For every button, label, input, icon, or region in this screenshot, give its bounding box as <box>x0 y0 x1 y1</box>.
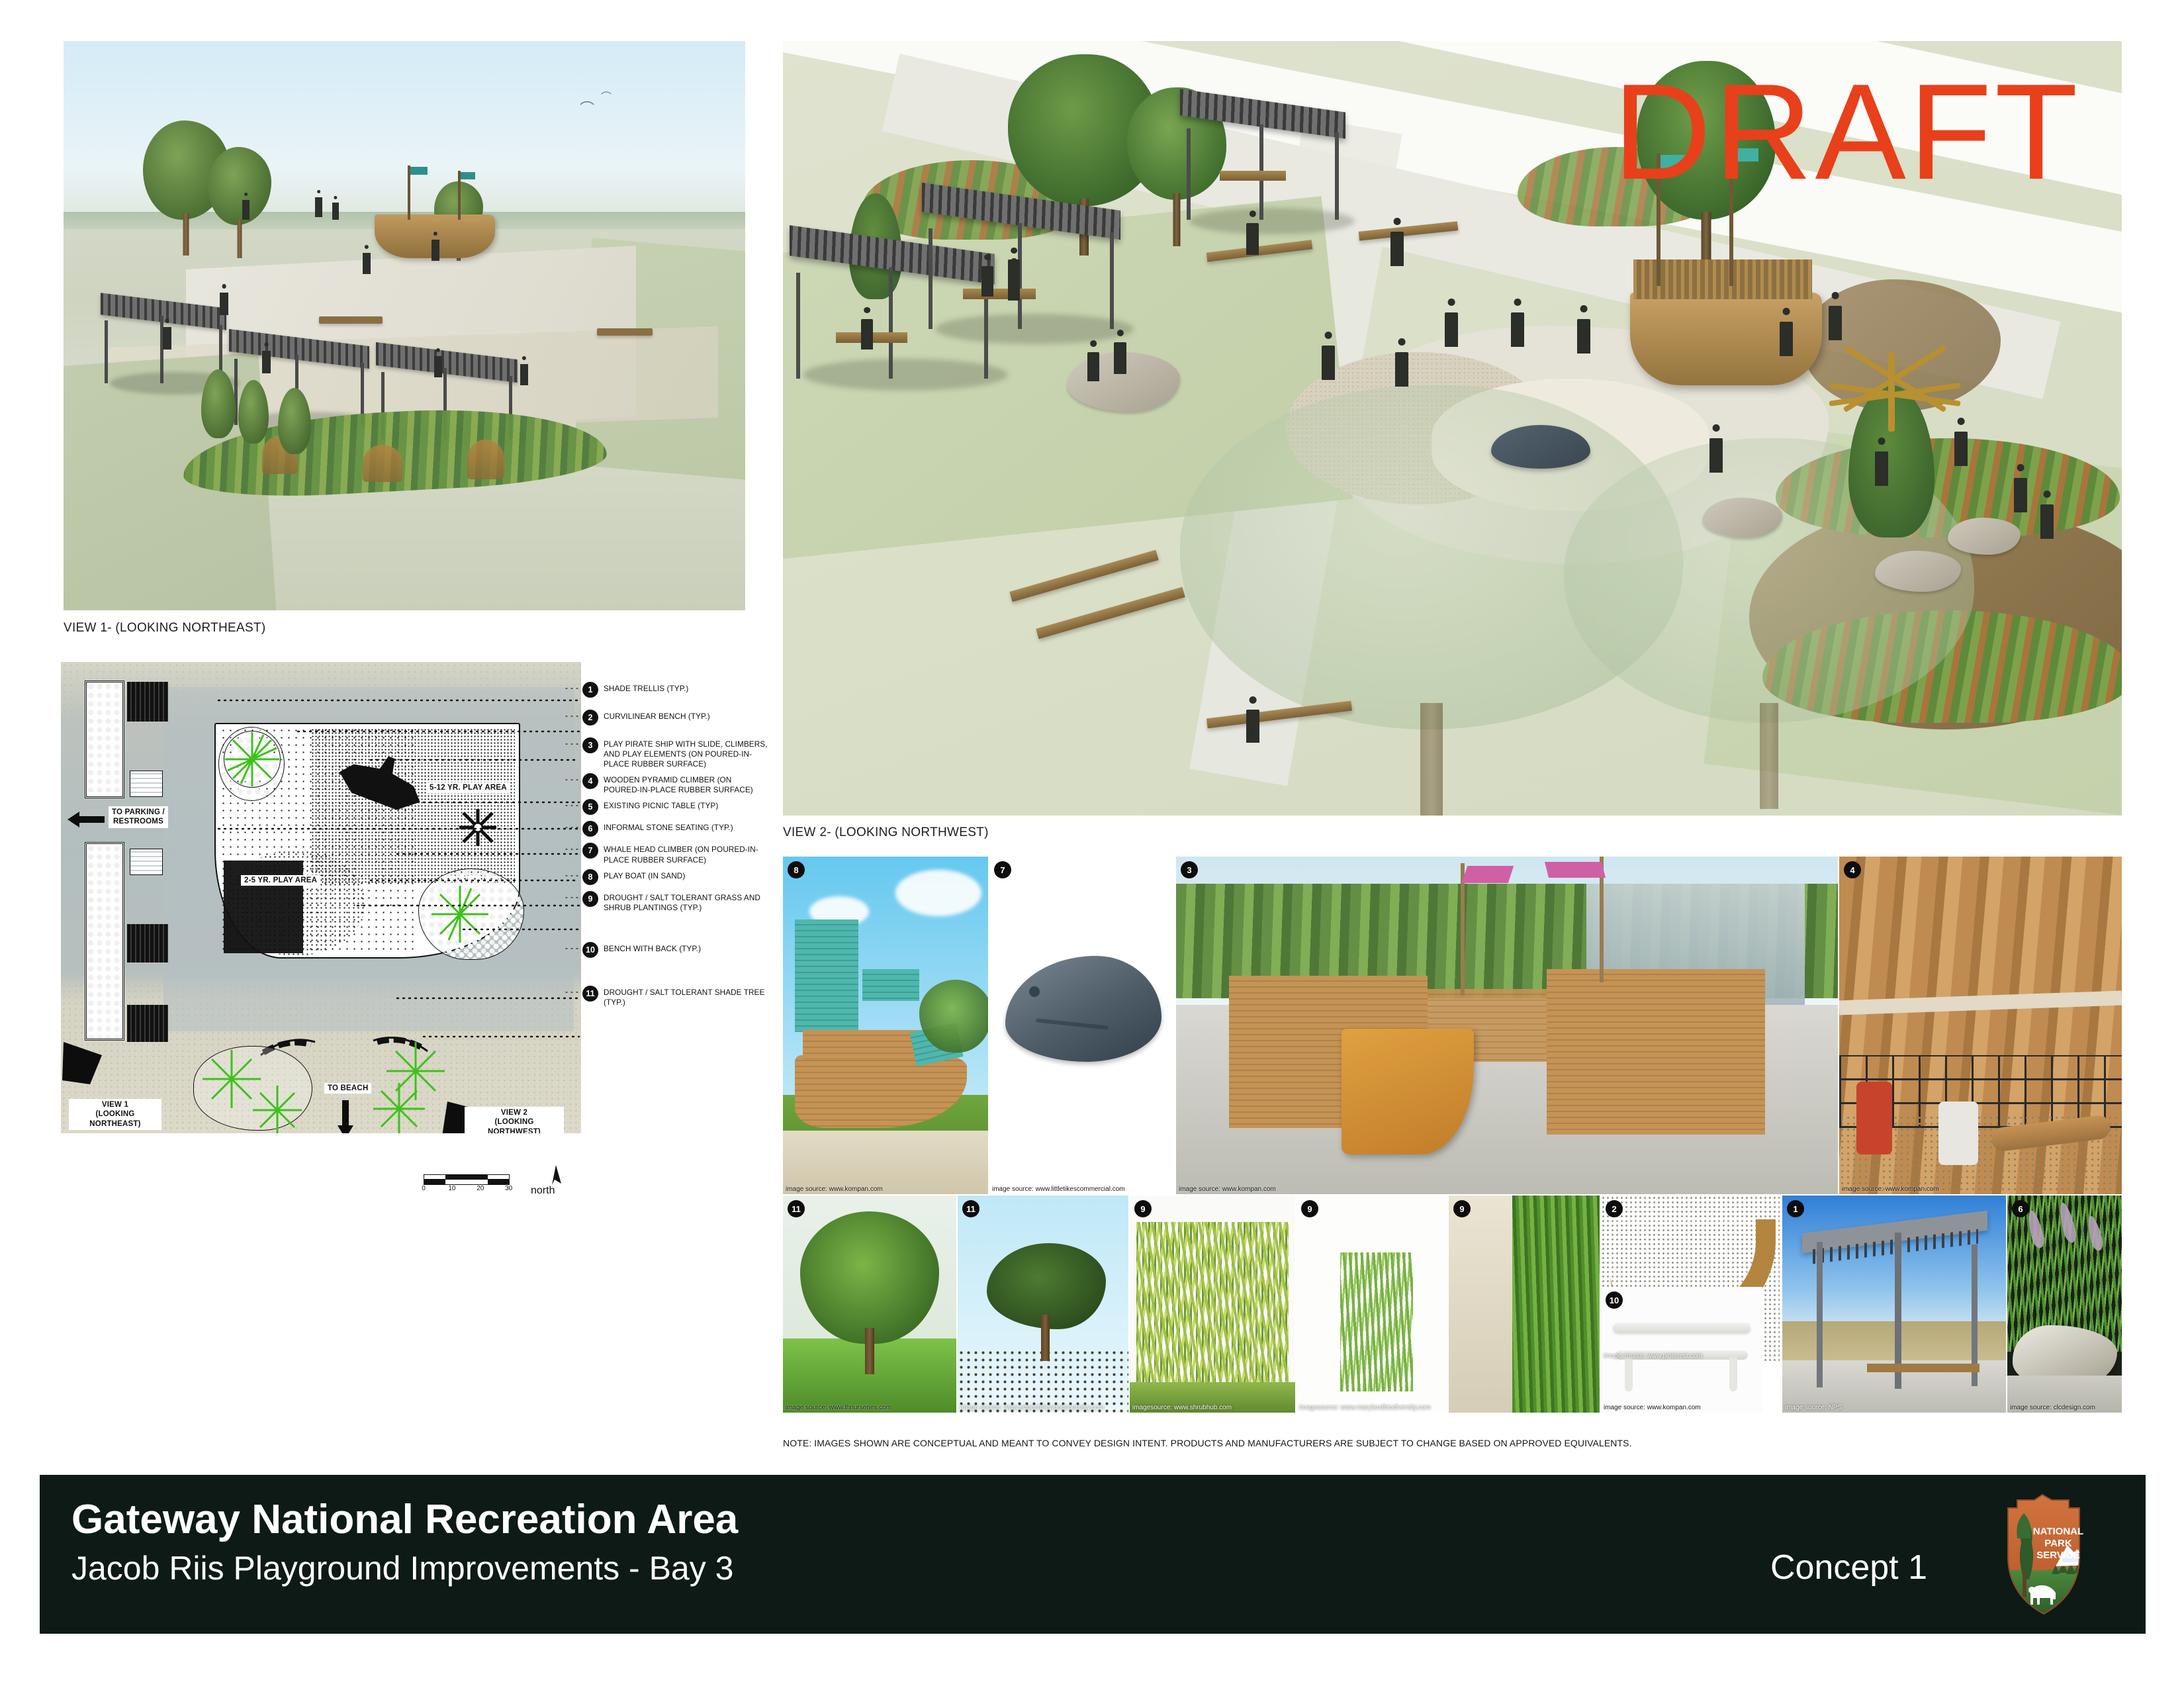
scale-bar-bottom <box>424 1180 510 1185</box>
person-figure <box>432 240 439 261</box>
person-figure <box>1445 312 1458 347</box>
person-figure <box>1780 322 1793 356</box>
leader-dots-icon <box>564 743 581 745</box>
shade-tree-plan <box>251 1084 303 1133</box>
person-figure <box>363 253 371 274</box>
person-figure <box>1577 319 1590 353</box>
legend-item: 11 DROUGHT / SALT TOLERANT SHADE TREE (T… <box>582 986 781 1008</box>
legend-item: 2 CURVILINEAR BENCH (TYP.) <box>582 710 781 727</box>
shrub-massing <box>86 682 123 797</box>
person-figure <box>434 356 442 377</box>
photo-badge: 9 <box>1453 1200 1471 1217</box>
legend-number: 6 <box>582 821 598 837</box>
person-figure <box>1246 223 1259 255</box>
photo-badge: 9 <box>1134 1200 1152 1217</box>
legend-text: DROUGHT / SALT TOLERANT SHADE TREE (TYP.… <box>604 986 768 1008</box>
leader-dots-icon <box>564 826 581 829</box>
picnic-table <box>1867 1364 1979 1372</box>
boat-tower <box>795 919 858 1032</box>
view1-caption: VIEW 1- (LOOKING NORTHEAST) <box>64 621 265 635</box>
wooden-pyramid-climber <box>1829 352 1961 438</box>
parking-bay <box>127 682 168 722</box>
view2-rendering <box>783 41 2122 816</box>
photo-source: image source: www.pinterest.com <box>1604 1352 1703 1360</box>
legend-text: EXISTING PICNIC TABLE (TYP) <box>604 799 718 811</box>
informal-stone-seating <box>1703 498 1782 538</box>
legend-text: WOODEN PYRAMID CLIMBER (ON POURED-IN-PLA… <box>604 773 768 795</box>
whale-eye <box>1029 986 1040 997</box>
person-figure <box>861 319 873 350</box>
photo-badge: 7 <box>994 861 1011 878</box>
photo-source: image source: www.kompan.com <box>1179 1186 1276 1193</box>
person-figure <box>1087 352 1099 381</box>
ornamental-grass <box>467 440 504 479</box>
photo-source: image source: clcdesign.com <box>2010 1404 2095 1411</box>
legend-number: 1 <box>582 682 598 698</box>
bench-leg <box>1625 1357 1633 1391</box>
parking-bay <box>127 1005 168 1042</box>
legend-number: 8 <box>582 869 598 885</box>
legend-number: 10 <box>582 942 598 958</box>
bench-leg <box>1729 1357 1737 1391</box>
park-name: Gateway National Recreation Area <box>71 1496 738 1543</box>
informal-stone-seating <box>1948 518 2021 555</box>
ornamental-grass <box>363 445 402 482</box>
photo-ornamental-grass[interactable]: 9 imagesource: www.shrubhub.com <box>1130 1196 1295 1413</box>
legend-text: PLAY PIRATE SHIP WITH SLIDE, CLIMBERS, A… <box>604 737 768 769</box>
legend-item: 8 PLAY BOAT (IN SAND) <box>582 869 781 886</box>
leader-dots-icon <box>564 687 581 690</box>
person-figure <box>242 200 250 220</box>
view1-plan-label: VIEW 1 (LOOKING NORTHEAST) <box>69 1099 161 1130</box>
person-figure <box>2014 478 2027 512</box>
legend-text: INFORMAL STONE SEATING (TYP.) <box>604 821 733 833</box>
ship-flag <box>1661 155 1687 168</box>
photo-upright-shrub[interactable]: 9 imagesource: www.marylandbiodiversity.… <box>1297 1196 1447 1413</box>
person-figure <box>1511 312 1524 347</box>
rubber-surface-hatch <box>224 861 303 953</box>
view1-cone <box>61 1038 105 1086</box>
leader-dots-icon <box>564 874 581 877</box>
informal-stone-seating <box>1875 551 1961 592</box>
logo-line-3: SERVICE <box>2036 1550 2080 1561</box>
bench-backrest <box>1613 1323 1751 1333</box>
photo-source: image source: www.kompan.com <box>1604 1404 1701 1411</box>
to-parking-label: TO PARKING / RESTROOMS <box>109 806 168 828</box>
legend-text: PLAY BOAT (IN SAND) <box>604 869 685 881</box>
ship-mast <box>1729 147 1733 286</box>
conifer-tree <box>278 388 311 462</box>
legend-item: 6 INFORMAL STONE SEATING (TYP.) <box>582 821 781 838</box>
legend-number: 9 <box>582 891 598 907</box>
existing-picnic-table <box>1220 171 1286 181</box>
existing-picnic-table <box>963 289 1036 299</box>
photo-shade-trellis[interactable]: 1 image source: NPS <box>1782 1196 2006 1413</box>
to-beach-arrow <box>336 1100 355 1133</box>
north-arrow: north <box>523 1164 569 1203</box>
photo-badge: 3 <box>1181 861 1198 878</box>
ship-mast <box>1461 863 1465 996</box>
conifer-tree <box>238 380 269 451</box>
trellis-post <box>1817 1242 1823 1387</box>
person-figure <box>1008 259 1020 290</box>
person-figure <box>520 364 528 385</box>
ship-hull-right <box>1547 969 1765 1135</box>
person-figure <box>163 327 171 350</box>
photo-beach-shrub[interactable]: 9 <box>1449 1196 1600 1413</box>
younger-play-area-label: 2-5 YR. PLAY AREA <box>241 875 320 886</box>
existing-structure <box>130 849 163 875</box>
leader-dots-icon <box>564 947 581 950</box>
person-figure <box>262 351 271 373</box>
bench <box>319 316 383 324</box>
leader-dots-icon <box>564 896 581 899</box>
leader-dots-icon <box>564 991 581 994</box>
view2-caption: VIEW 2- (LOOKING NORTHWEST) <box>783 825 989 840</box>
photo-play-boat[interactable]: 8 image source: www.kompan.com <box>783 857 988 1194</box>
bird-icon: ︵ <box>580 87 594 109</box>
title-bar: Gateway National Recreation Area Jacob R… <box>40 1475 2146 1634</box>
tree-canopy <box>800 1211 939 1344</box>
grid-note: NOTE: IMAGES SHOWN ARE CONCEPTUAL AND ME… <box>783 1438 1632 1448</box>
legend-number: 7 <box>582 843 598 859</box>
person-figure <box>315 197 322 217</box>
parking-bay <box>127 924 168 962</box>
older-play-area-label: 5-12 YR. PLAY AREA <box>426 782 510 793</box>
legend-item: 3 PLAY PIRATE SHIP WITH SLIDE, CLIMBERS,… <box>582 737 781 769</box>
view1-rendering: ︵ ︵ <box>64 41 745 610</box>
person-figure <box>2040 504 2054 539</box>
concept-label: Concept 1 <box>1770 1548 1927 1587</box>
legend-number: 4 <box>582 773 598 789</box>
bird-icon: ︵ <box>601 81 612 97</box>
legend-item: 4 WOODEN PYRAMID CLIMBER (ON POURED-IN-P… <box>582 773 781 795</box>
shrub-massing <box>86 843 123 1039</box>
photo-source: image source: www.edgeofthewoodsnursery.… <box>960 1404 1104 1411</box>
ship-flag <box>1733 148 1758 162</box>
bench <box>597 328 653 336</box>
shade-tree-plan <box>430 884 490 944</box>
site-plan: TO PARKING / RESTROOMS TO BEACH 5-12 YR.… <box>61 662 581 1133</box>
legend-text: DROUGHT / SALT TOLERANT GRASS AND SHRUB … <box>604 891 768 913</box>
legend-text: SHADE TRELLIS (TYP.) <box>604 682 688 694</box>
legend-item: 1 SHADE TRELLIS (TYP.) <box>582 682 781 699</box>
leader-dots-icon <box>564 848 581 851</box>
photo-badge: 8 <box>788 861 805 878</box>
shade-tree-plan <box>372 1082 426 1133</box>
project-title: Jacob Riis Playground Improvements - Bay… <box>71 1549 733 1587</box>
ship-flag <box>1462 866 1514 883</box>
legend-item: 10 BENCH WITH BACK (TYP.) <box>582 942 781 959</box>
photo-badge: 11 <box>962 1200 979 1217</box>
pyramid-climber-plan-icon <box>458 808 498 847</box>
photo-whale-head-climber[interactable]: 7 image source: www.littletikescommercia… <box>989 857 1175 1194</box>
photo-source: image source: www.kompan.com <box>1842 1186 1939 1193</box>
leader-dots-icon <box>564 804 581 807</box>
photo-stone-seating[interactable]: 6 image source: clcdesign.com <box>2007 1196 2122 1413</box>
photo-pitch-pine[interactable]: 11 image source: www.edgeofthewoodsnurse… <box>958 1196 1128 1413</box>
existing-structure <box>130 771 163 797</box>
ship-flag <box>461 172 475 179</box>
photo-pirate-ship[interactable]: 3 image source: www.kompan.com <box>1176 857 1838 1194</box>
photo-source: image source: NPS <box>1785 1404 1842 1411</box>
shade-trellis <box>1180 101 1345 220</box>
sand-surface <box>783 1131 988 1194</box>
person-figure <box>1390 232 1404 266</box>
scale-bar-ticks: 0 10 20 30 <box>424 1185 510 1194</box>
tree <box>919 980 988 1053</box>
logo-line-2: PARK <box>2044 1538 2072 1549</box>
legend-item: 9 DROUGHT / SALT TOLERANT GRASS AND SHRU… <box>582 891 781 913</box>
to-beach-label: TO BEACH <box>324 1083 371 1094</box>
photo-badge: 2 <box>1606 1200 1623 1217</box>
shade-tree-plan <box>224 731 281 788</box>
photo-shade-tree[interactable]: 11 image source: www.lhnurseries.com <box>783 1196 956 1413</box>
tree <box>208 147 271 259</box>
photo-badge: 10 <box>1606 1291 1623 1309</box>
play-pirate-ship <box>1630 293 1822 385</box>
leader-dots-icon <box>564 778 581 781</box>
photo-source: image source: www.littletikescommercial.… <box>992 1186 1125 1193</box>
nps-arrowhead-logo: NATIONAL PARK SERVICE <box>1995 1493 2093 1615</box>
precedent-image-grid: 8 image source: www.kompan.com 7 image s… <box>783 857 2122 1423</box>
photo-source: image source: www.kompan.com <box>786 1186 883 1193</box>
ship-mast <box>1657 154 1661 286</box>
photo-bench-with-back[interactable]: 10 image source: www.kompan.com <box>1601 1287 1762 1413</box>
leader-dots-icon <box>564 715 581 718</box>
photo-source: imagesource: www.marylandbiodiversity.co… <box>1299 1404 1431 1411</box>
legend-number: 5 <box>582 799 598 815</box>
legend-list: 1 SHADE TRELLIS (TYP.) 2 CURVILINEAR BEN… <box>582 682 781 1010</box>
person-figure <box>1114 342 1126 374</box>
shrub-mass <box>1340 1252 1413 1391</box>
photo-source: image source: www.lhnurseries.com <box>786 1404 891 1411</box>
legend-number: 3 <box>582 737 598 753</box>
shadow <box>935 314 1134 344</box>
photo-badge: 9 <box>1301 1200 1318 1217</box>
cloud <box>895 870 981 916</box>
legend-item: 5 EXISTING PICNIC TABLE (TYP) <box>582 799 781 816</box>
legend-number: 2 <box>582 710 598 726</box>
photo-badge: 4 <box>1844 861 1861 878</box>
shadow <box>803 359 1008 391</box>
legend-text: BENCH WITH BACK (TYP.) <box>604 942 701 954</box>
photo-badge: 1 <box>1787 1200 1804 1217</box>
ship-flag <box>410 167 428 175</box>
photo-badge: 11 <box>788 1200 805 1217</box>
person-figure <box>981 266 993 297</box>
scale-bar-top <box>424 1174 510 1180</box>
legend-text: WHALE HEAD CLIMBER (ON POURED-IN-PLACE R… <box>604 843 768 865</box>
view2-plan-label: VIEW 2 (LOOKING NORTHWEST) <box>465 1107 564 1133</box>
grass-mass <box>1136 1222 1289 1407</box>
shadow <box>1189 208 1355 234</box>
photo-pyramid-climber[interactable]: 4 image source: www.kompan.com <box>1839 857 2122 1194</box>
person-figure <box>1875 451 1888 486</box>
legend-text: CURVILINEAR BENCH (TYP.) <box>604 710 710 722</box>
to-parking-arrow <box>68 810 105 829</box>
legend-item: 7 WHALE HEAD CLIMBER (ON POURED-IN-PLACE… <box>582 843 781 865</box>
person-figure <box>1322 346 1335 380</box>
person-figure <box>220 293 228 315</box>
photo-source: imagesource: www.shrubhub.com <box>1132 1404 1232 1411</box>
person-figure <box>1709 438 1723 473</box>
ship-flag <box>1545 862 1606 878</box>
dense-shrub <box>1512 1196 1600 1413</box>
boat-canopy <box>862 969 919 1001</box>
pine-trunk <box>1041 1315 1050 1361</box>
person-figure <box>1829 306 1842 340</box>
logo-line-1: NATIONAL <box>2033 1526 2083 1537</box>
person-figure <box>332 203 339 220</box>
person-figure <box>1954 432 1968 466</box>
child-figure <box>1938 1102 1978 1165</box>
person-figure <box>1395 352 1408 387</box>
north-label: north <box>531 1185 555 1197</box>
scale-bar: 0 10 20 30 <box>424 1174 510 1194</box>
person-figure <box>1246 710 1259 743</box>
tree-trunk <box>865 1328 874 1374</box>
conifer-tree <box>201 369 236 447</box>
legend-number: 11 <box>582 986 598 1002</box>
shade-trellis <box>922 197 1120 329</box>
child-figure <box>1856 1082 1892 1154</box>
photo-badge: 6 <box>2012 1200 2029 1217</box>
